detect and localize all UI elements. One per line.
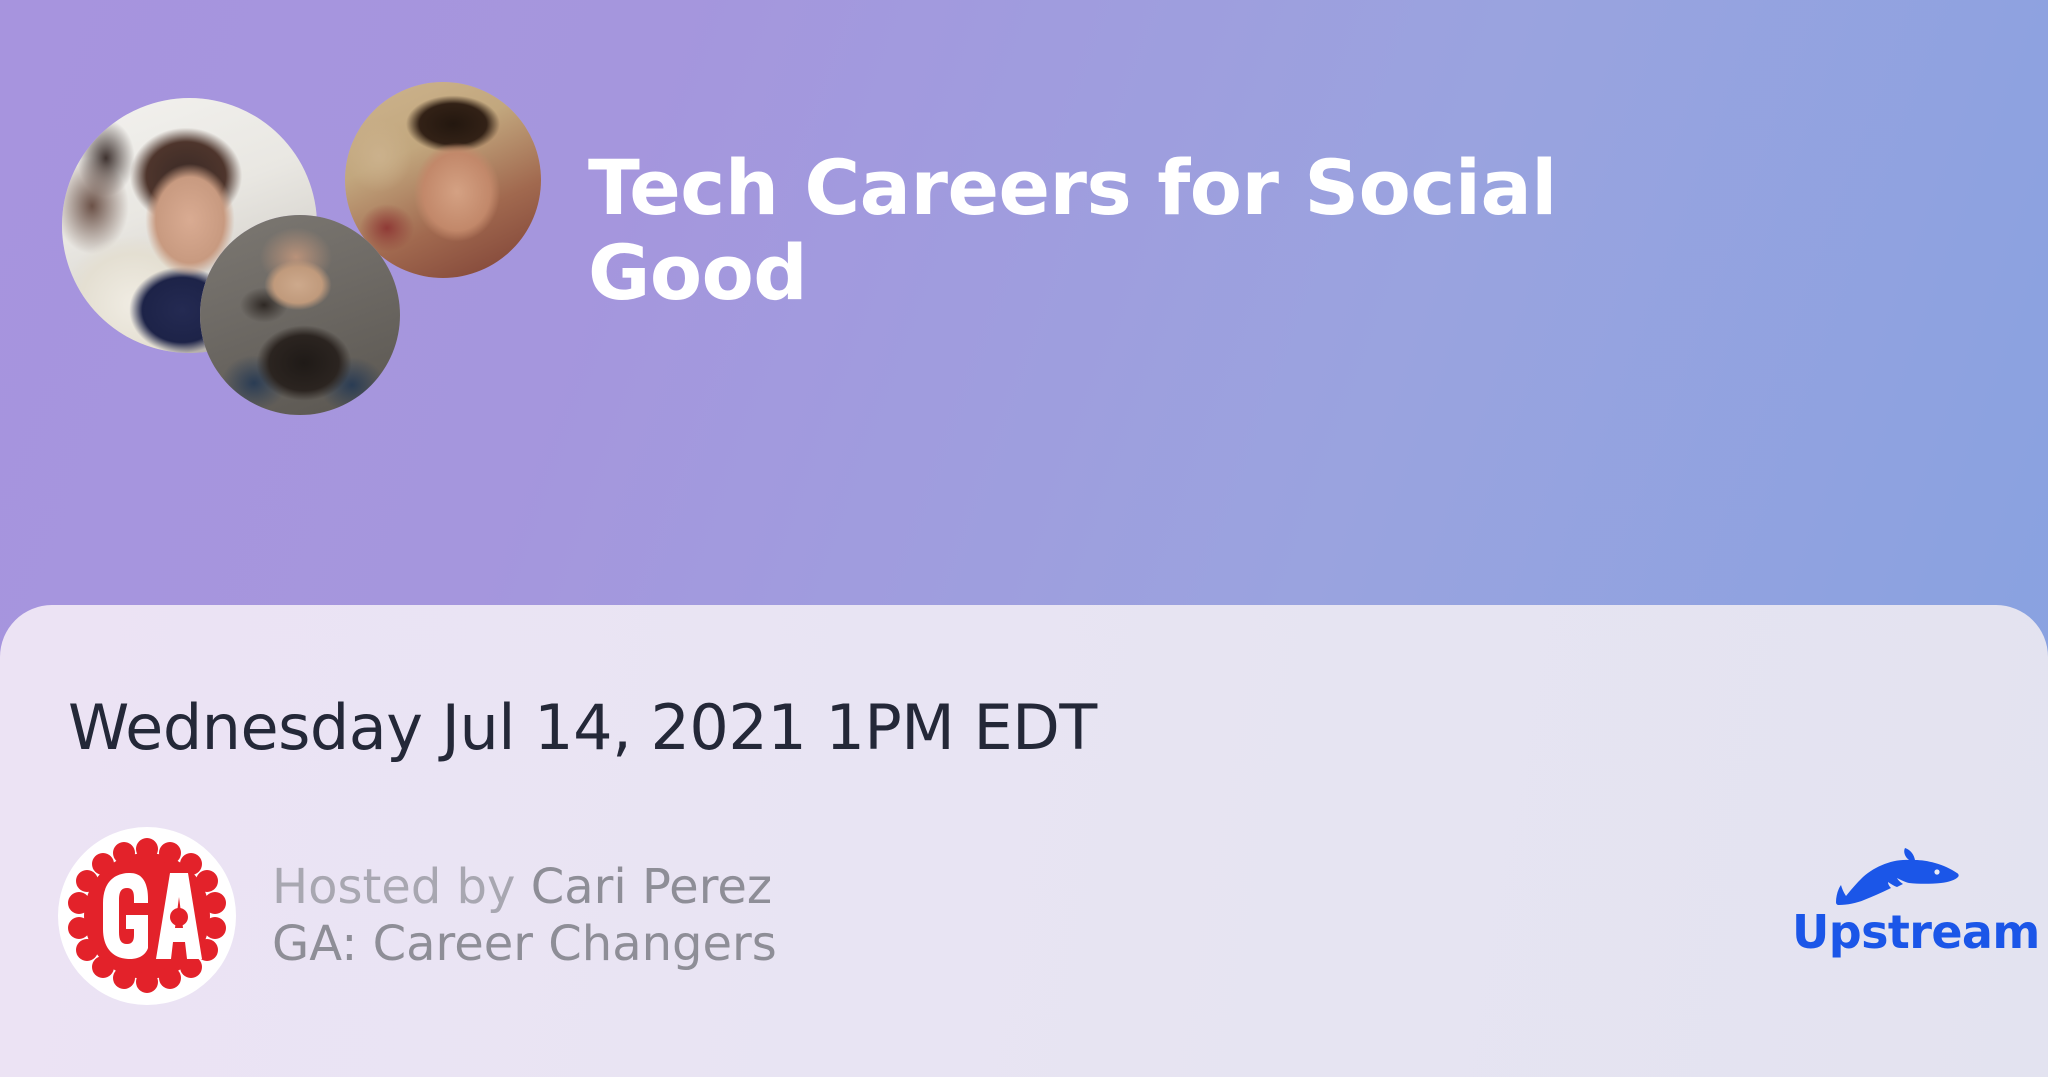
dolphin-icon [1833,845,1961,907]
host-organization: GA: Career Changers [272,916,777,973]
host-name: Cari Perez [531,859,772,915]
event-datetime: Wednesday Jul 14, 2021 1PM EDT [68,691,1097,764]
speaker-avatar-2 [200,215,400,415]
host-block: Hosted by Cari Perez GA: Career Changers [58,827,777,1005]
event-title: Tech Careers for Social Good [588,145,1788,315]
speaker-photo [200,215,400,415]
ga-cog-logo-icon [58,827,236,1005]
host-line: Hosted by Cari Perez [272,859,777,916]
event-banner: Tech Careers for Social Good Wednesday J… [0,0,2048,1077]
upstream-wordmark: Upstream [1792,909,2002,955]
host-text: Hosted by Cari Perez GA: Career Changers [272,859,777,972]
upstream-sponsor-logo: Upstream [1792,845,2002,955]
hero-section: Tech Careers for Social Good [0,0,2048,610]
event-info-card: Wednesday Jul 14, 2021 1PM EDT [0,605,2048,1077]
hosted-by-label: Hosted by [272,859,531,915]
